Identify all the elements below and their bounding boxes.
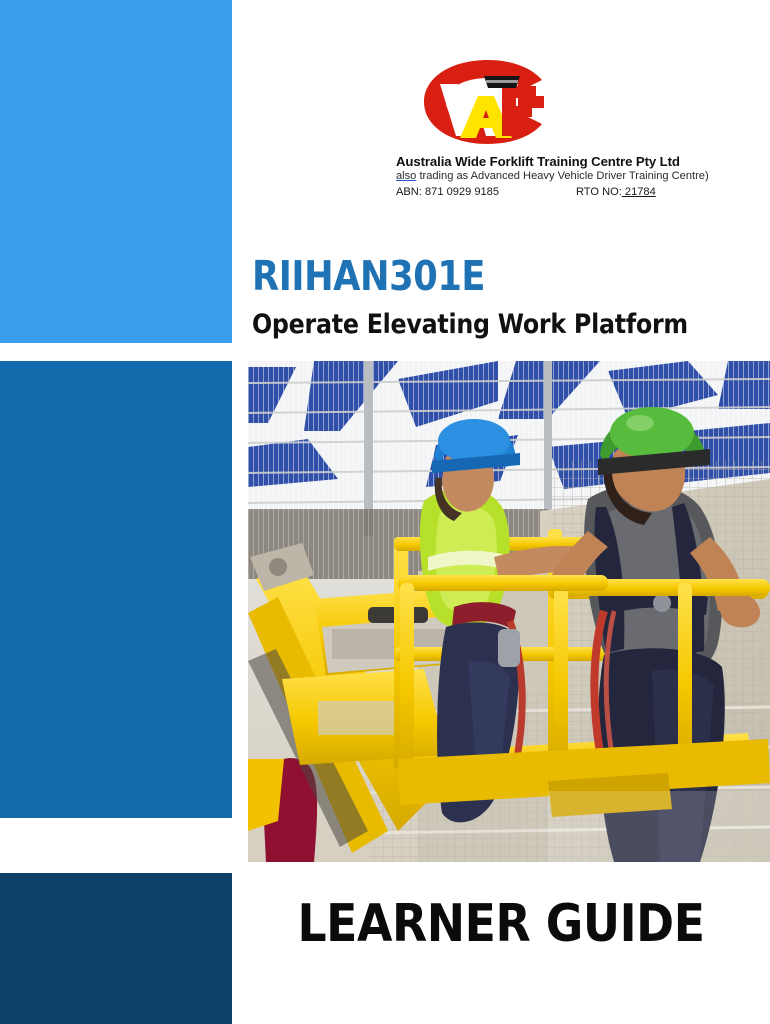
elevating-work-platform-photo [248, 361, 770, 862]
abn-line: ABN: 871 0929 9185 [396, 186, 576, 198]
course-heading-block: RIIHAN301E Operate Elevating Work Platfo… [252, 256, 752, 338]
abn-value: 871 0929 9185 [422, 186, 499, 198]
organisation-name: Australia Wide Forklift Training Centre … [396, 154, 716, 169]
course-code: RIIHAN301E [252, 256, 682, 297]
cover-page: Australia Wide Forklift Training Centre … [0, 0, 770, 1024]
rto-value: 21784 [622, 186, 656, 198]
rto-line: RTO NO: 21784 [576, 186, 656, 198]
course-title: Operate Elevating Work Platform [252, 311, 692, 338]
awf-training-centre-logo-icon [414, 56, 564, 148]
organisation-identity-block: Australia Wide Forklift Training Centre … [396, 56, 716, 198]
abn-label: ABN: [396, 186, 422, 198]
decor-bar-middle [0, 361, 232, 818]
learner-guide-title: LEARNER GUIDE [264, 898, 737, 950]
organisation-registration-ids: ABN: 871 0929 9185 RTO NO: 21784 [396, 186, 716, 198]
trading-name-underlined: also [396, 170, 416, 182]
decor-bar-bottom [0, 873, 232, 1024]
decor-bar-top [0, 0, 232, 343]
organisation-trading-name: also trading as Advanced Heavy Vehicle D… [396, 170, 716, 184]
trading-name-rest: trading as Advanced Heavy Vehicle Driver… [416, 170, 708, 182]
rto-label: RTO NO: [576, 186, 622, 198]
